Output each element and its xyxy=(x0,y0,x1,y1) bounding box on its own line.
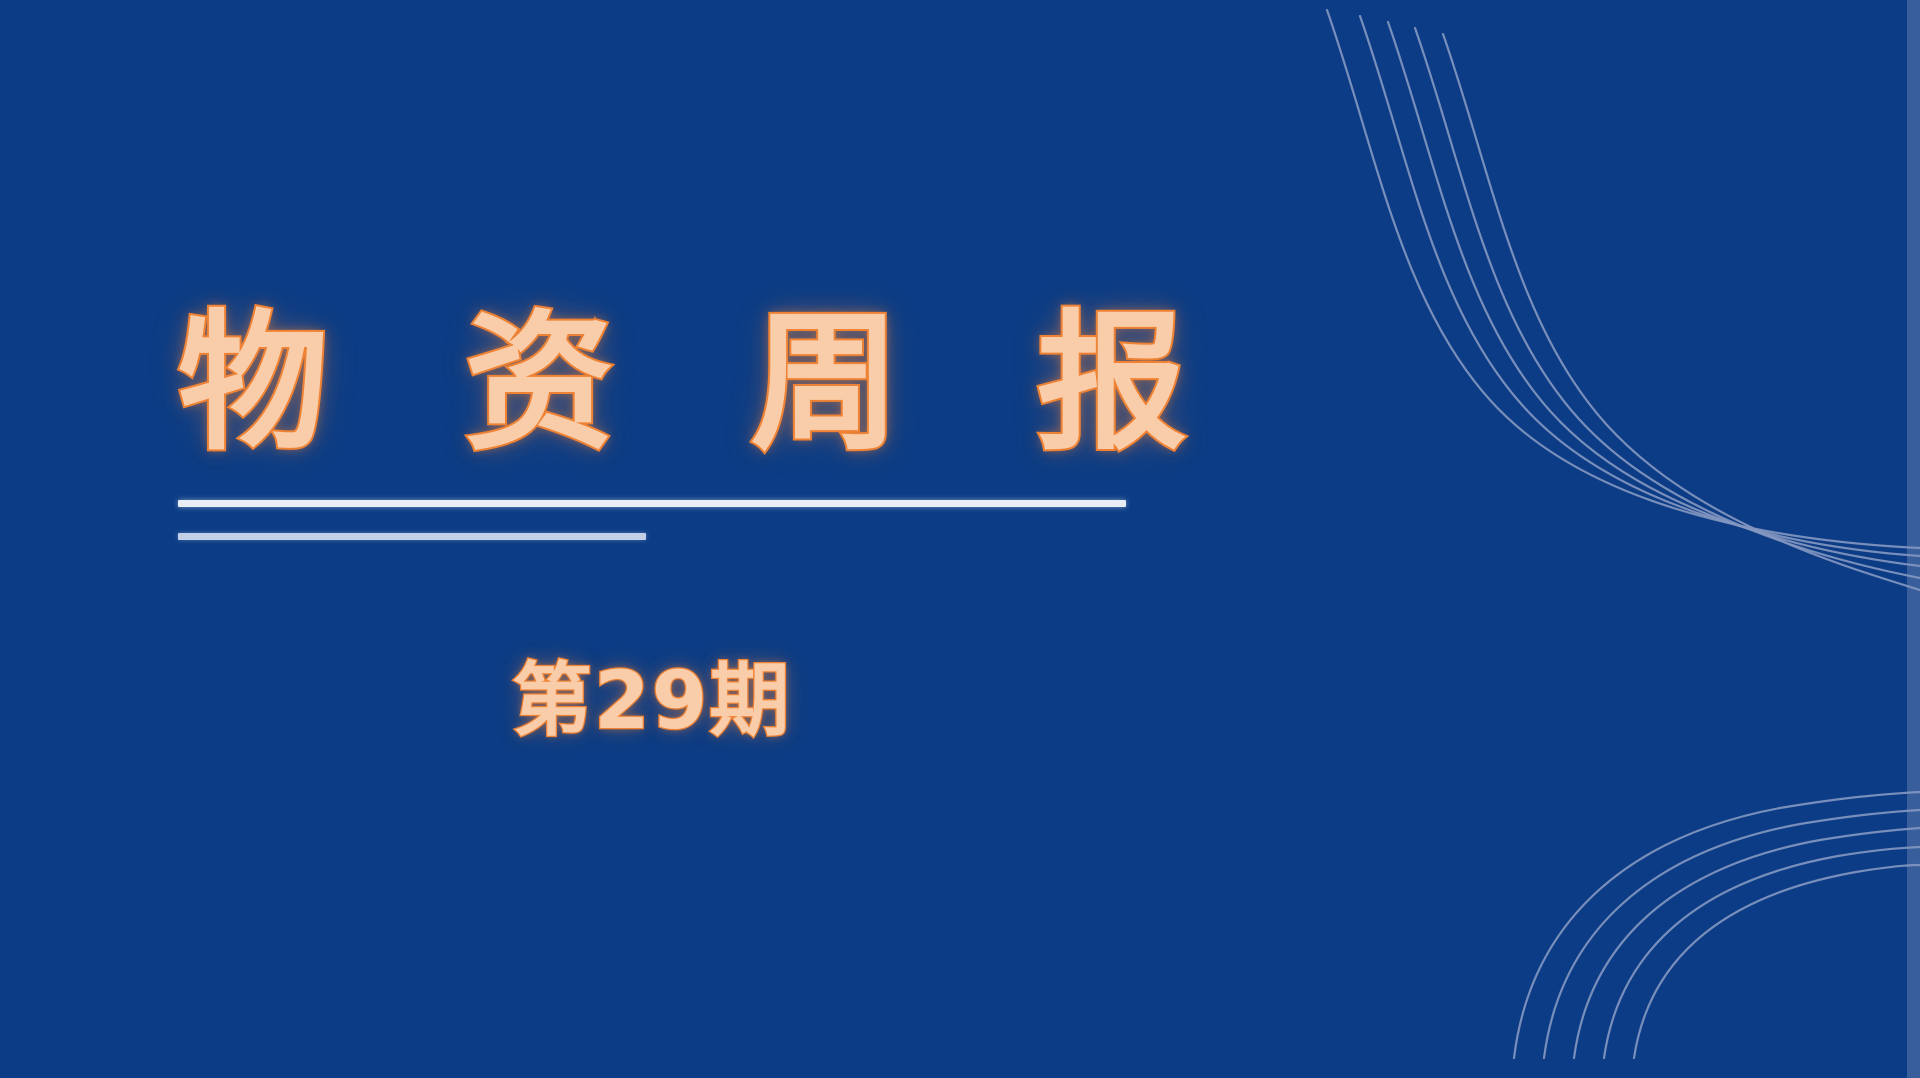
right-edge-band xyxy=(1907,0,1920,1078)
title-underline-long xyxy=(178,500,1126,507)
flowing-curve-lines-bottom-right-decoration xyxy=(1480,718,1920,1078)
page-title: 物 资 周 报 xyxy=(178,300,1178,468)
title-underline-short xyxy=(178,533,646,540)
issue-subtitle: 第29期 xyxy=(512,655,791,747)
title-underline-group xyxy=(178,500,1126,540)
flowing-curve-lines-top-right-decoration xyxy=(1280,0,1920,600)
title-block: 物 资 周 报 xyxy=(178,300,1178,468)
cover-slide: 物 资 周 报 第29期 xyxy=(0,0,1920,1078)
